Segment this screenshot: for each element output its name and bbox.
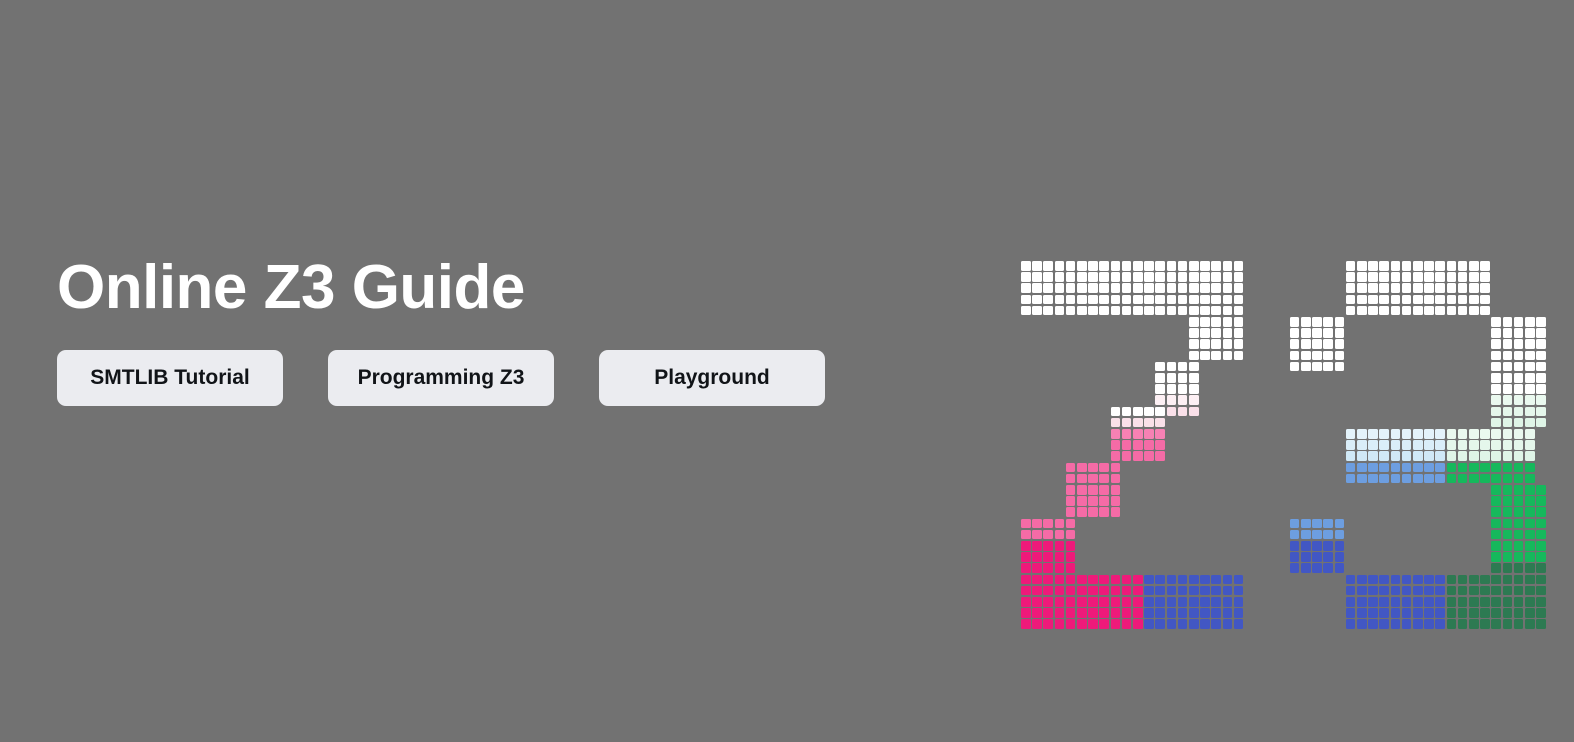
logo-pixel	[1234, 328, 1244, 338]
logo-pixel	[1021, 552, 1031, 562]
logo-pixel	[1167, 395, 1177, 405]
logo-pixel	[1480, 451, 1490, 461]
logo-pixel	[1346, 463, 1356, 473]
logo-pixel	[1402, 619, 1412, 629]
logo-pixel	[1469, 429, 1479, 439]
logo-pixel	[1122, 295, 1132, 305]
logo-pixel	[1413, 440, 1423, 450]
logo-pixel	[1290, 552, 1300, 562]
logo-pixel	[1200, 586, 1210, 596]
logo-pixel	[1211, 339, 1221, 349]
logo-pixel	[1469, 619, 1479, 629]
logo-pixel	[1469, 575, 1479, 585]
logo-pixel	[1503, 485, 1513, 495]
logo-pixel	[1312, 552, 1322, 562]
logo-pixel	[1346, 608, 1356, 618]
logo-pixel	[1211, 295, 1221, 305]
logo-pixel	[1447, 608, 1457, 618]
logo-pixel	[1301, 563, 1311, 573]
logo-pixel	[1379, 619, 1389, 629]
logo-pixel	[1368, 451, 1378, 461]
logo-pixel	[1223, 283, 1233, 293]
logo-pixel	[1491, 575, 1501, 585]
logo-pixel	[1066, 575, 1076, 585]
logo-pixel	[1055, 530, 1065, 540]
logo-pixel	[1491, 463, 1501, 473]
logo-pixel	[1211, 261, 1221, 271]
logo-pixel	[1155, 261, 1165, 271]
logo-pixel	[1480, 608, 1490, 618]
logo-pixel	[1536, 575, 1546, 585]
logo-pixel	[1077, 283, 1087, 293]
logo-pixel	[1200, 328, 1210, 338]
logo-pixel	[1055, 541, 1065, 551]
logo-pixel	[1536, 317, 1546, 327]
smtlib-tutorial-button[interactable]: SMTLIB Tutorial	[57, 350, 283, 406]
logo-pixel	[1413, 272, 1423, 282]
logo-pixel	[1480, 295, 1490, 305]
logo-pixel	[1099, 306, 1109, 316]
logo-pixel	[1178, 384, 1188, 394]
logo-pixel	[1491, 339, 1501, 349]
logo-pixel	[1189, 608, 1199, 618]
logo-pixel	[1290, 541, 1300, 551]
logo-pixel	[1458, 295, 1468, 305]
logo-pixel	[1223, 295, 1233, 305]
logo-pixel	[1200, 261, 1210, 271]
logo-pixel	[1088, 586, 1098, 596]
logo-pixel	[1480, 586, 1490, 596]
logo-pixel	[1167, 575, 1177, 585]
logo-pixel	[1424, 586, 1434, 596]
logo-pixel	[1111, 507, 1121, 517]
logo-pixel	[1200, 351, 1210, 361]
logo-pixel	[1111, 575, 1121, 585]
logo-pixel	[1536, 597, 1546, 607]
logo-pixel	[1032, 541, 1042, 551]
logo-pixel	[1077, 507, 1087, 517]
logo-pixel	[1111, 597, 1121, 607]
logo-pixel	[1223, 608, 1233, 618]
logo-pixel	[1234, 608, 1244, 618]
logo-pixel	[1043, 597, 1053, 607]
logo-pixel	[1234, 261, 1244, 271]
logo-pixel	[1144, 418, 1154, 428]
logo-pixel	[1402, 474, 1412, 484]
logo-pixel	[1503, 619, 1513, 629]
logo-pixel	[1021, 575, 1031, 585]
logo-pixel	[1536, 530, 1546, 540]
logo-pixel	[1525, 451, 1535, 461]
logo-pixel	[1447, 306, 1457, 316]
hero-section: Online Z3 Guide SMTLIB Tutorial Programm…	[57, 255, 957, 406]
logo-pixel	[1402, 597, 1412, 607]
logo-pixel	[1290, 317, 1300, 327]
logo-pixel	[1447, 429, 1457, 439]
logo-pixel	[1223, 306, 1233, 316]
logo-pixel	[1503, 429, 1513, 439]
logo-pixel	[1211, 306, 1221, 316]
logo-pixel	[1335, 362, 1345, 372]
logo-pixel	[1066, 586, 1076, 596]
logo-pixel	[1368, 608, 1378, 618]
logo-pixel	[1122, 306, 1132, 316]
logo-pixel	[1099, 261, 1109, 271]
logo-pixel	[1211, 608, 1221, 618]
logo-pixel	[1503, 418, 1513, 428]
logo-pixel	[1503, 317, 1513, 327]
logo-pixel	[1379, 295, 1389, 305]
logo-pixel	[1413, 429, 1423, 439]
logo-pixel	[1491, 496, 1501, 506]
logo-pixel	[1223, 328, 1233, 338]
logo-pixel	[1189, 586, 1199, 596]
logo-pixel	[1435, 463, 1445, 473]
logo-pixel	[1133, 429, 1143, 439]
logo-pixel	[1491, 351, 1501, 361]
logo-pixel	[1323, 530, 1333, 540]
logo-pixel	[1211, 351, 1221, 361]
logo-pixel	[1066, 261, 1076, 271]
logo-pixel	[1021, 272, 1031, 282]
logo-pixel	[1525, 440, 1535, 450]
logo-pixel	[1122, 619, 1132, 629]
logo-pixel	[1525, 485, 1535, 495]
logo-pixel	[1133, 272, 1143, 282]
logo-pixel	[1525, 328, 1535, 338]
logo-pixel	[1301, 519, 1311, 529]
logo-pixel	[1111, 283, 1121, 293]
logo-pixel	[1346, 440, 1356, 450]
logo-pixel	[1357, 619, 1367, 629]
logo-pixel	[1357, 575, 1367, 585]
logo-pixel	[1402, 575, 1412, 585]
logo-pixel	[1391, 619, 1401, 629]
logo-pixel	[1144, 429, 1154, 439]
logo-pixel	[1458, 463, 1468, 473]
logo-pixel	[1155, 384, 1165, 394]
logo-pixel	[1379, 474, 1389, 484]
logo-pixel	[1077, 261, 1087, 271]
logo-pixel	[1379, 451, 1389, 461]
logo-pixel	[1368, 619, 1378, 629]
logo-pixel	[1111, 608, 1121, 618]
logo-pixel	[1133, 575, 1143, 585]
logo-pixel	[1525, 362, 1535, 372]
logo-pixel	[1223, 351, 1233, 361]
logo-pixel	[1447, 575, 1457, 585]
logo-pixel	[1335, 317, 1345, 327]
logo-pixel	[1525, 619, 1535, 629]
logo-pixel	[1447, 474, 1457, 484]
logo-pixel	[1491, 519, 1501, 529]
logo-pixel	[1514, 351, 1524, 361]
logo-pixel	[1447, 440, 1457, 450]
logo-pixel	[1346, 597, 1356, 607]
logo-pixel	[1144, 619, 1154, 629]
logo-pixel	[1514, 519, 1524, 529]
logo-pixel	[1503, 328, 1513, 338]
logo-pixel	[1032, 261, 1042, 271]
logo-pixel	[1066, 496, 1076, 506]
logo-pixel	[1066, 563, 1076, 573]
logo-pixel	[1301, 317, 1311, 327]
logo-pixel	[1525, 575, 1535, 585]
logo-pixel	[1312, 339, 1322, 349]
logo-pixel	[1491, 440, 1501, 450]
logo-pixel	[1536, 384, 1546, 394]
logo-pixel	[1402, 261, 1412, 271]
logo-pixel	[1032, 272, 1042, 282]
logo-pixel	[1301, 328, 1311, 338]
logo-pixel	[1469, 440, 1479, 450]
logo-pixel	[1122, 451, 1132, 461]
logo-pixel	[1066, 552, 1076, 562]
logo-pixel	[1346, 283, 1356, 293]
logo-pixel	[1099, 597, 1109, 607]
logo-pixel	[1099, 272, 1109, 282]
logo-pixel	[1480, 429, 1490, 439]
logo-pixel	[1435, 429, 1445, 439]
logo-pixel	[1312, 563, 1322, 573]
logo-pixel	[1111, 619, 1121, 629]
logo-pixel	[1469, 306, 1479, 316]
logo-pixel	[1301, 362, 1311, 372]
logo-pixel	[1491, 619, 1501, 629]
logo-pixel	[1290, 351, 1300, 361]
logo-pixel	[1357, 463, 1367, 473]
logo-pixel	[1032, 586, 1042, 596]
logo-pixel	[1458, 306, 1468, 316]
logo-pixel	[1167, 283, 1177, 293]
logo-pixel	[1155, 272, 1165, 282]
logo-pixel	[1088, 597, 1098, 607]
logo-pixel	[1346, 586, 1356, 596]
logo-pixel	[1503, 362, 1513, 372]
logo-pixel	[1368, 295, 1378, 305]
logo-pixel	[1111, 451, 1121, 461]
playground-button[interactable]: Playground	[599, 350, 825, 406]
logo-pixel	[1503, 395, 1513, 405]
logo-pixel	[1155, 575, 1165, 585]
logo-pixel	[1133, 619, 1143, 629]
logo-pixel	[1503, 575, 1513, 585]
logo-pixel	[1301, 541, 1311, 551]
logo-pixel	[1480, 474, 1490, 484]
logo-pixel	[1536, 563, 1546, 573]
logo-pixel	[1066, 474, 1076, 484]
logo-pixel	[1424, 440, 1434, 450]
hero-button-row: SMTLIB Tutorial Programming Z3 Playgroun…	[57, 350, 957, 406]
logo-pixel	[1368, 463, 1378, 473]
logo-pixel	[1301, 530, 1311, 540]
logo-pixel	[1178, 586, 1188, 596]
logo-pixel	[1200, 597, 1210, 607]
logo-pixel	[1435, 586, 1445, 596]
logo-pixel	[1077, 619, 1087, 629]
logo-pixel	[1413, 586, 1423, 596]
logo-pixel	[1043, 519, 1053, 529]
logo-pixel	[1503, 563, 1513, 573]
logo-pixel	[1514, 362, 1524, 372]
logo-pixel	[1312, 541, 1322, 551]
logo-pixel	[1368, 272, 1378, 282]
logo-pixel	[1111, 272, 1121, 282]
logo-pixel	[1491, 451, 1501, 461]
logo-pixel	[1032, 575, 1042, 585]
logo-pixel	[1290, 519, 1300, 529]
logo-pixel	[1491, 418, 1501, 428]
logo-pixel	[1503, 451, 1513, 461]
logo-pixel	[1055, 586, 1065, 596]
logo-pixel	[1312, 530, 1322, 540]
logo-pixel	[1525, 496, 1535, 506]
logo-pixel	[1312, 519, 1322, 529]
logo-pixel	[1189, 373, 1199, 383]
logo-pixel	[1111, 474, 1121, 484]
logo-pixel	[1514, 395, 1524, 405]
logo-pixel	[1088, 306, 1098, 316]
logo-pixel	[1379, 429, 1389, 439]
logo-pixel	[1491, 563, 1501, 573]
logo-pixel	[1491, 608, 1501, 618]
logo-pixel	[1503, 407, 1513, 417]
logo-pixel	[1346, 295, 1356, 305]
logo-pixel	[1514, 541, 1524, 551]
logo-pixel	[1536, 586, 1546, 596]
logo-pixel	[1055, 597, 1065, 607]
logo-pixel	[1200, 339, 1210, 349]
logo-pixel	[1066, 530, 1076, 540]
logo-pixel	[1458, 619, 1468, 629]
logo-pixel	[1525, 552, 1535, 562]
logo-pixel	[1088, 283, 1098, 293]
logo-pixel	[1155, 608, 1165, 618]
logo-pixel	[1189, 384, 1199, 394]
logo-pixel	[1088, 295, 1098, 305]
logo-pixel	[1424, 306, 1434, 316]
logo-pixel	[1536, 608, 1546, 618]
logo-pixel	[1211, 586, 1221, 596]
logo-pixel	[1211, 619, 1221, 629]
logo-pixel	[1503, 530, 1513, 540]
logo-pixel	[1312, 328, 1322, 338]
logo-pixel	[1055, 272, 1065, 282]
logo-pixel	[1514, 317, 1524, 327]
logo-pixel	[1323, 541, 1333, 551]
logo-pixel	[1088, 496, 1098, 506]
logo-pixel	[1223, 339, 1233, 349]
logo-pixel	[1155, 295, 1165, 305]
logo-pixel	[1536, 496, 1546, 506]
logo-pixel	[1189, 283, 1199, 293]
logo-pixel	[1133, 440, 1143, 450]
logo-pixel	[1491, 507, 1501, 517]
logo-pixel	[1391, 283, 1401, 293]
logo-pixel	[1178, 619, 1188, 629]
logo-pixel	[1099, 575, 1109, 585]
logo-pixel	[1043, 272, 1053, 282]
logo-pixel	[1435, 440, 1445, 450]
logo-pixel	[1122, 261, 1132, 271]
logo-pixel	[1144, 608, 1154, 618]
logo-pixel	[1144, 261, 1154, 271]
programming-z3-button[interactable]: Programming Z3	[328, 350, 554, 406]
logo-pixel	[1391, 586, 1401, 596]
logo-pixel	[1111, 496, 1121, 506]
logo-pixel	[1447, 272, 1457, 282]
logo-pixel	[1424, 597, 1434, 607]
logo-pixel	[1447, 261, 1457, 271]
logo-pixel	[1536, 407, 1546, 417]
logo-pixel	[1391, 463, 1401, 473]
logo-pixel	[1032, 530, 1042, 540]
logo-pixel	[1301, 351, 1311, 361]
logo-pixel	[1155, 306, 1165, 316]
logo-pixel	[1301, 552, 1311, 562]
logo-pixel	[1122, 407, 1132, 417]
logo-pixel	[1458, 474, 1468, 484]
logo-pixel	[1178, 362, 1188, 372]
logo-pixel	[1368, 586, 1378, 596]
logo-pixel	[1099, 463, 1109, 473]
logo-pixel	[1167, 608, 1177, 618]
logo-pixel	[1413, 597, 1423, 607]
logo-pixel	[1346, 619, 1356, 629]
logo-pixel	[1066, 519, 1076, 529]
logo-pixel	[1021, 619, 1031, 629]
logo-pixel	[1099, 586, 1109, 596]
logo-pixel	[1111, 429, 1121, 439]
logo-pixel	[1379, 272, 1389, 282]
logo-pixel	[1536, 418, 1546, 428]
logo-pixel	[1234, 295, 1244, 305]
logo-pixel	[1167, 272, 1177, 282]
logo-pixel	[1088, 261, 1098, 271]
logo-pixel	[1514, 384, 1524, 394]
logo-pixel	[1335, 351, 1345, 361]
logo-pixel	[1424, 474, 1434, 484]
logo-pixel	[1536, 339, 1546, 349]
logo-pixel	[1491, 373, 1501, 383]
logo-pixel	[1514, 429, 1524, 439]
logo-pixel	[1043, 530, 1053, 540]
logo-pixel	[1469, 451, 1479, 461]
logo-pixel	[1424, 272, 1434, 282]
logo-pixel	[1066, 485, 1076, 495]
logo-pixel	[1514, 328, 1524, 338]
logo-pixel	[1021, 541, 1031, 551]
logo-pixel	[1167, 306, 1177, 316]
logo-pixel	[1144, 283, 1154, 293]
logo-pixel	[1424, 575, 1434, 585]
logo-pixel	[1413, 619, 1423, 629]
logo-pixel	[1435, 474, 1445, 484]
logo-pixel	[1357, 295, 1367, 305]
logo-pixel	[1447, 463, 1457, 473]
logo-pixel	[1503, 339, 1513, 349]
logo-pixel	[1514, 563, 1524, 573]
logo-pixel	[1144, 306, 1154, 316]
logo-pixel	[1503, 507, 1513, 517]
logo-pixel	[1223, 619, 1233, 629]
logo-pixel	[1368, 474, 1378, 484]
logo-pixel	[1223, 597, 1233, 607]
logo-pixel	[1379, 575, 1389, 585]
logo-pixel	[1223, 317, 1233, 327]
logo-pixel	[1525, 586, 1535, 596]
logo-pixel	[1312, 351, 1322, 361]
